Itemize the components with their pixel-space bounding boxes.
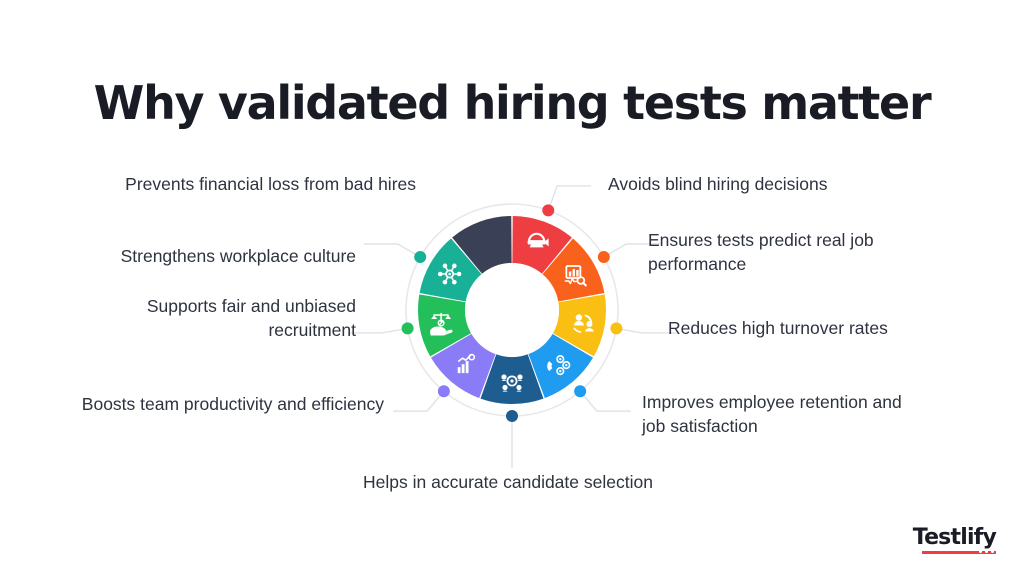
- segment-dot-boosts-productivity[interactable]: [438, 385, 450, 397]
- segment-label-reduces-turnover[interactable]: Reduces high turnover rates: [668, 316, 988, 340]
- logo-dots-icon: [979, 550, 994, 553]
- testlify-logo[interactable]: Testlify: [913, 527, 996, 554]
- connector-boosts-productivity: [393, 391, 444, 411]
- connector-avoids-blind-hiring: [548, 186, 591, 210]
- segment-label-strengthens-culture[interactable]: Strengthens workplace culture: [60, 244, 356, 268]
- connector-fair-unbiased-recruitment: [348, 328, 408, 333]
- segment-label-accurate-candidate-selection[interactable]: Helps in accurate candidate selection: [332, 470, 684, 494]
- segment-label-fair-unbiased-recruitment[interactable]: Supports fair and unbiased recruitment: [74, 294, 356, 342]
- segment-dot-improves-retention[interactable]: [574, 385, 586, 397]
- segment-dot-reduces-turnover[interactable]: [610, 322, 622, 334]
- logo-underline: [922, 551, 996, 554]
- segment-label-improves-retention[interactable]: Improves employee retention and job sati…: [642, 390, 962, 438]
- connector-improves-retention: [580, 391, 631, 411]
- donut-hole: [465, 263, 559, 357]
- connector-strengthens-culture: [364, 244, 421, 257]
- segment-label-boosts-productivity[interactable]: Boosts team productivity and efficiency: [18, 392, 384, 416]
- segment-label-prevents-financial-loss[interactable]: Prevents financial loss from bad hires: [62, 172, 416, 196]
- segment-dot-accurate-candidate-selection[interactable]: [506, 410, 518, 422]
- segment-dot-fair-unbiased-recruitment[interactable]: [402, 322, 414, 334]
- segment-dot-strengthens-culture[interactable]: [414, 251, 426, 263]
- segment-label-avoids-blind-hiring[interactable]: Avoids blind hiring decisions: [608, 172, 938, 196]
- logo-wordmark: Testlify: [913, 527, 996, 549]
- segment-dot-ensures-tests-predict[interactable]: [598, 251, 610, 263]
- segment-dot-avoids-blind-hiring[interactable]: [542, 204, 554, 216]
- segment-label-ensures-tests-predict[interactable]: Ensures tests predict real job performan…: [648, 228, 958, 276]
